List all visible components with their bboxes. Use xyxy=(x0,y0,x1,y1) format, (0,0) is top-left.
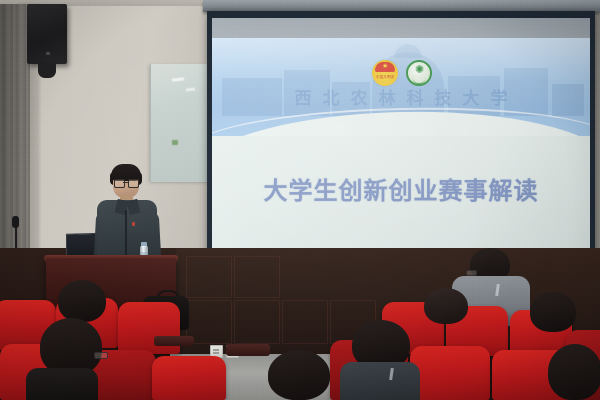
auditorium-seat xyxy=(410,346,490,400)
wheat-icon: ✺ xyxy=(415,65,424,76)
audience-head xyxy=(424,288,468,324)
audience-glasses-icon xyxy=(94,352,108,359)
star-icon: ★ xyxy=(382,63,388,70)
glass-board xyxy=(150,64,209,182)
podium-microphone-icon xyxy=(12,216,19,228)
presenter-torso xyxy=(97,200,157,262)
speaker-mount xyxy=(38,62,56,78)
cyl-emblem-text: 中国共青团 xyxy=(374,74,396,79)
slide-banner: 西北农林科技大学 ★ 中国共青团 ✺ xyxy=(212,38,590,136)
presenter-badge xyxy=(132,222,135,226)
wood-panel xyxy=(234,300,280,344)
presentation-slide: 西北农林科技大学 ★ 中国共青团 ✺ 大学生创新创业赛事解读 xyxy=(212,38,590,251)
projection-screen: 西北农林科技大学 ★ 中国共青团 ✺ 大学生创新创业赛事解读 xyxy=(212,18,590,286)
audience-head xyxy=(530,292,576,332)
wood-panel xyxy=(234,256,280,298)
audience-head xyxy=(268,350,330,400)
audience-torso xyxy=(26,368,98,400)
slide-title: 大学生创新创业赛事解读 xyxy=(212,171,590,206)
audience-head xyxy=(58,280,106,322)
auditorium-seat xyxy=(152,356,226,400)
presenter-shirt-placket xyxy=(125,210,127,260)
wood-panel xyxy=(282,300,328,344)
wood-panel xyxy=(186,256,232,298)
auditorium-seat xyxy=(118,302,180,354)
seat-armrest xyxy=(154,336,194,346)
speaker-led-icon xyxy=(46,52,50,55)
screen-inactive-band-top xyxy=(212,18,590,40)
lecture-hall-photo: ◆ ThreeStars 西北农林科技大学 ★ 中国共青团 xyxy=(0,0,600,400)
glass-board-marking xyxy=(172,140,178,145)
seat-armrest xyxy=(226,344,270,356)
audience-head xyxy=(548,344,600,400)
university-name-text: 西北农林科技大学 xyxy=(212,84,590,109)
presenter-glasses-icon xyxy=(114,179,138,186)
audience-torso xyxy=(340,362,420,400)
wall-speaker xyxy=(27,4,67,64)
